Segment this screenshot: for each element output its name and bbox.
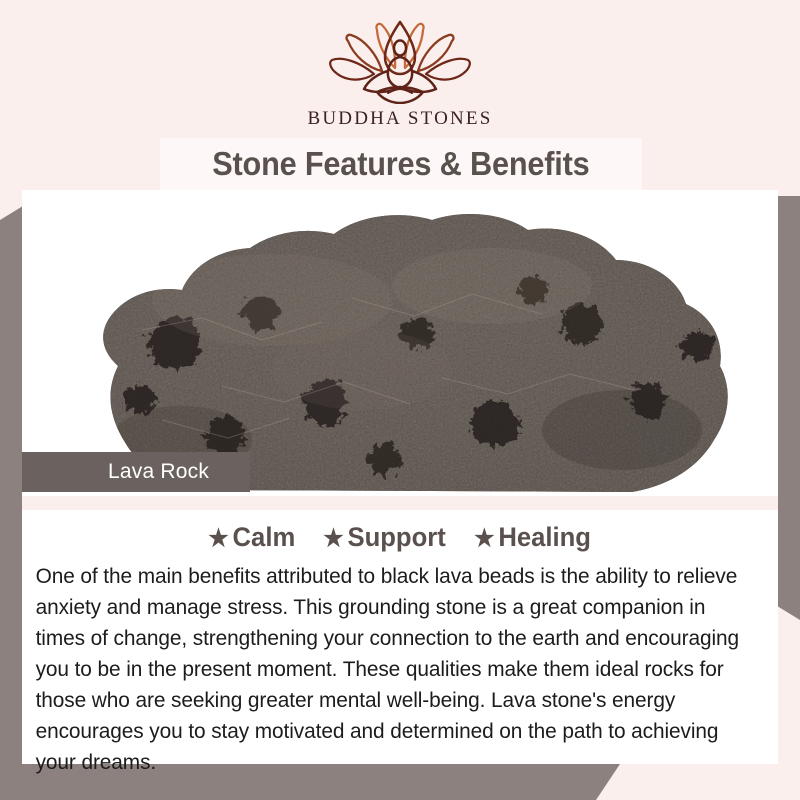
brand-logo: BUDDHA STONES: [0, 18, 800, 130]
star-icon: ★: [474, 525, 494, 552]
keyword-item: ★Support: [323, 522, 446, 553]
page-title: Stone Features & Benefits: [212, 145, 589, 183]
keyword-item: ★Healing: [474, 522, 591, 553]
star-icon: ★: [208, 525, 228, 552]
photo-separator: [22, 496, 778, 510]
keyword-item: ★Calm: [208, 522, 295, 553]
keyword-list: ★Calm ★Support ★Healing: [22, 510, 778, 553]
poster-root: BUDDHA STONES Stone Features & Benefits: [0, 0, 800, 800]
keyword-label: Healing: [499, 522, 592, 552]
stone-name-banner: Lava Rock: [22, 452, 250, 492]
content-card: ★Calm ★Support ★Healing One of the main …: [22, 510, 778, 764]
keyword-label: Calm: [232, 522, 295, 552]
title-panel: Stone Features & Benefits: [160, 138, 642, 190]
star-icon: ★: [323, 525, 343, 552]
lava-rock-photo: [22, 190, 778, 496]
stone-name-label: Lava Rock: [22, 460, 209, 484]
keyword-label: Support: [347, 522, 445, 552]
brand-name: BUDDHA STONES: [0, 108, 800, 130]
stone-photo-container: [22, 190, 778, 496]
lotus-meditation-icon: [325, 18, 475, 104]
description-paragraph: One of the main benefits attributed to b…: [22, 553, 755, 778]
